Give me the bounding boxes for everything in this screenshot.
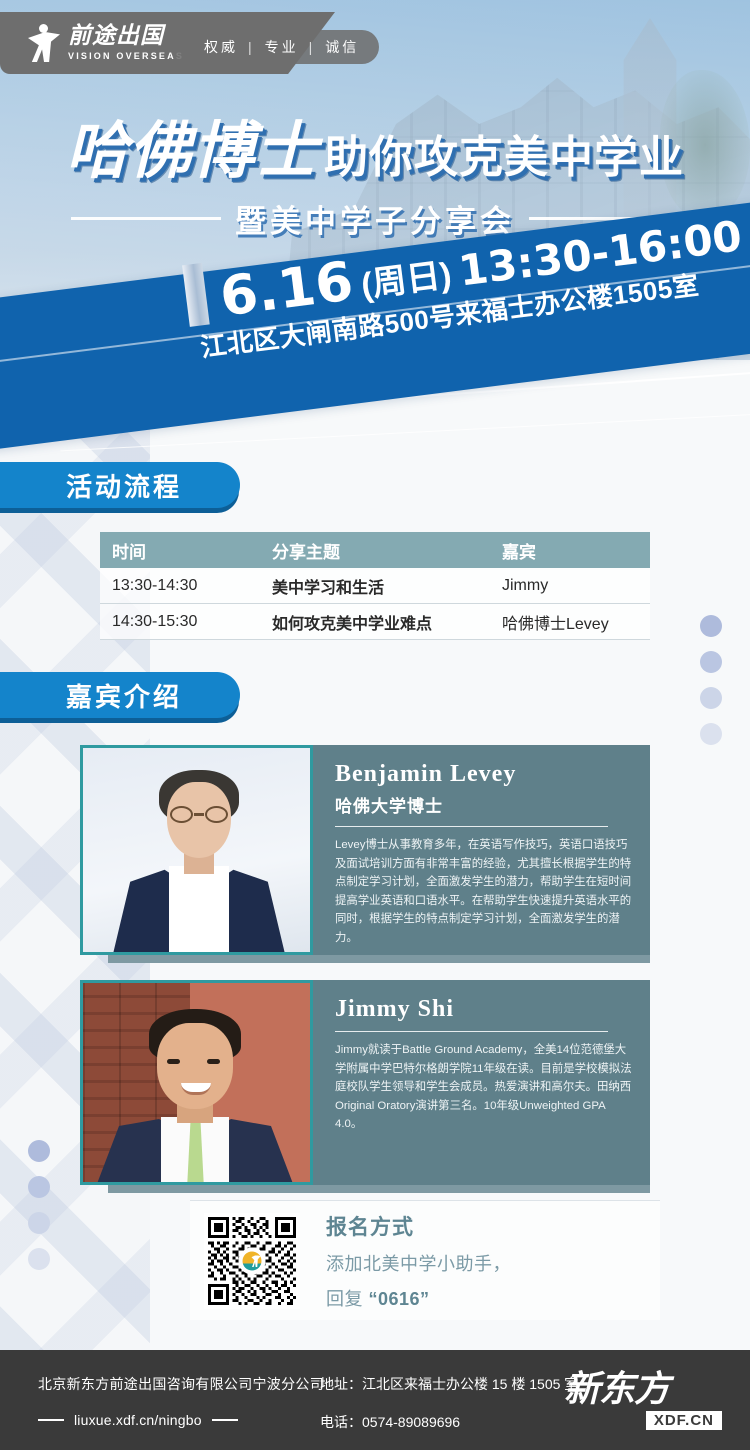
guest-card: Benjamin Levey 哈佛大学博士 Levey博士从事教育多年，在英语写… <box>80 745 650 955</box>
column-header-time: 时间 <box>100 538 260 563</box>
guest-bio-panel: Jimmy Shi Jimmy就读于Battle Ground Academy，… <box>313 980 650 1185</box>
column-header-topic: 分享主题 <box>260 538 490 563</box>
footer-address-label: 地址： <box>320 1376 362 1392</box>
footer-dash-left <box>38 1419 64 1421</box>
dot-1 <box>28 1140 50 1162</box>
guest-photo-jimmy <box>80 980 313 1185</box>
registration-line1: 添加北美中学小助手， <box>326 1250 511 1276</box>
title-main: 哈佛博士 <box>66 114 318 187</box>
cell-guest: 哈佛博士Levey <box>490 610 650 634</box>
section-tab-guests-label: 嘉宾介绍 <box>66 677 182 714</box>
registration-code: “0616” <box>369 1289 430 1309</box>
tagline-item-0: 权威 <box>204 37 238 57</box>
cell-time: 14:30-15:30 <box>100 613 260 631</box>
dot-2 <box>28 1176 50 1198</box>
footer: 北京新东方前途出国咨询有限公司宁波分公司 liuxue.xdf.cn/ningb… <box>0 1350 750 1450</box>
schedule-table: 时间 分享主题 嘉宾 13:30-14:30 美中学习和生活 Jimmy 14:… <box>100 532 650 640</box>
cell-time: 13:30-14:30 <box>100 577 260 595</box>
cell-topic: 如何攻克美中学业难点 <box>260 610 490 634</box>
guest-divider <box>335 826 608 827</box>
logo-chinese-name: 前途出国 <box>68 25 184 48</box>
registration-card: 报名方式 添加北美中学小助手， 回复 “0616” <box>190 1200 660 1320</box>
cell-guest: Jimmy <box>490 577 650 595</box>
footer-website[interactable]: liuxue.xdf.cn/ningbo <box>74 1412 202 1428</box>
guest-name: Benjamin Levey <box>335 761 632 787</box>
dot-3 <box>28 1212 50 1234</box>
guest-name: Jimmy Shi <box>335 996 632 1022</box>
tagline-item-1: 专业 <box>265 37 299 57</box>
dot-1 <box>700 615 722 637</box>
tagline-item-2: 诚信 <box>325 37 359 57</box>
footer-dash-right <box>212 1419 238 1421</box>
footer-tel: 0574-89089696 <box>362 1414 460 1430</box>
cell-topic: 美中学习和生活 <box>260 574 490 598</box>
registration-title: 报名方式 <box>326 1211 511 1241</box>
footer-company: 北京新东方前途出国咨询有限公司宁波分公司 <box>38 1374 324 1394</box>
decor-dots-right <box>700 615 722 745</box>
guest-bio-panel: Benjamin Levey 哈佛大学博士 Levey博士从事教育多年，在英语写… <box>313 745 650 955</box>
eyeglasses-icon <box>169 806 229 823</box>
xdf-brand-en: XDF.CN <box>646 1411 722 1430</box>
dot-3 <box>700 687 722 709</box>
footer-tel-label: 电话： <box>320 1414 362 1430</box>
vision-overseas-icon <box>26 23 62 63</box>
guest-role: 哈佛大学博士 <box>335 792 632 817</box>
date-accent-bar <box>182 263 210 327</box>
dot-4 <box>700 723 722 745</box>
guest-bio-text: Jimmy就读于Battle Ground Academy，全美14位范德堡大学… <box>335 1041 632 1133</box>
tagline-bar: 权威 | 专业 | 诚信 <box>176 30 379 64</box>
table-row: 13:30-14:30 美中学习和生活 Jimmy <box>100 568 650 604</box>
table-header-row: 时间 分享主题 嘉宾 <box>100 532 650 568</box>
decor-dots-left <box>28 1140 50 1270</box>
dot-2 <box>700 651 722 673</box>
section-tab-guests: 嘉宾介绍 <box>0 672 240 718</box>
xdf-brand-cn: 新东方 <box>564 1372 724 1408</box>
dot-4 <box>28 1248 50 1270</box>
guest-bio-text: Levey博士从事教育多年，在英语写作技巧，英语口语技巧及面试培训方面有非常丰富… <box>335 836 632 947</box>
tagline-separator-2: | <box>309 39 316 55</box>
guest-photo-levey <box>80 745 313 955</box>
guest-divider <box>335 1031 608 1032</box>
footer-address: 江北区来福士办公楼 15 楼 1505 室 <box>362 1376 578 1392</box>
qr-code[interactable] <box>204 1213 300 1309</box>
qr-center-logo-icon <box>239 1247 266 1274</box>
logo-english-name: VISION OVERSEAS <box>68 52 184 61</box>
column-header-guest: 嘉宾 <box>490 538 650 563</box>
table-row: 14:30-15:30 如何攻克美中学业难点 哈佛博士Levey <box>100 604 650 640</box>
registration-line2-prefix: 回复 <box>326 1289 363 1309</box>
tagline-separator-1: | <box>248 39 255 55</box>
guest-card: Jimmy Shi Jimmy就读于Battle Ground Academy，… <box>80 980 650 1185</box>
section-tab-schedule-label: 活动流程 <box>66 467 182 504</box>
xdf-brand-logo: 新东方 XDF.CN <box>564 1372 724 1430</box>
section-tab-schedule: 活动流程 <box>0 462 240 508</box>
